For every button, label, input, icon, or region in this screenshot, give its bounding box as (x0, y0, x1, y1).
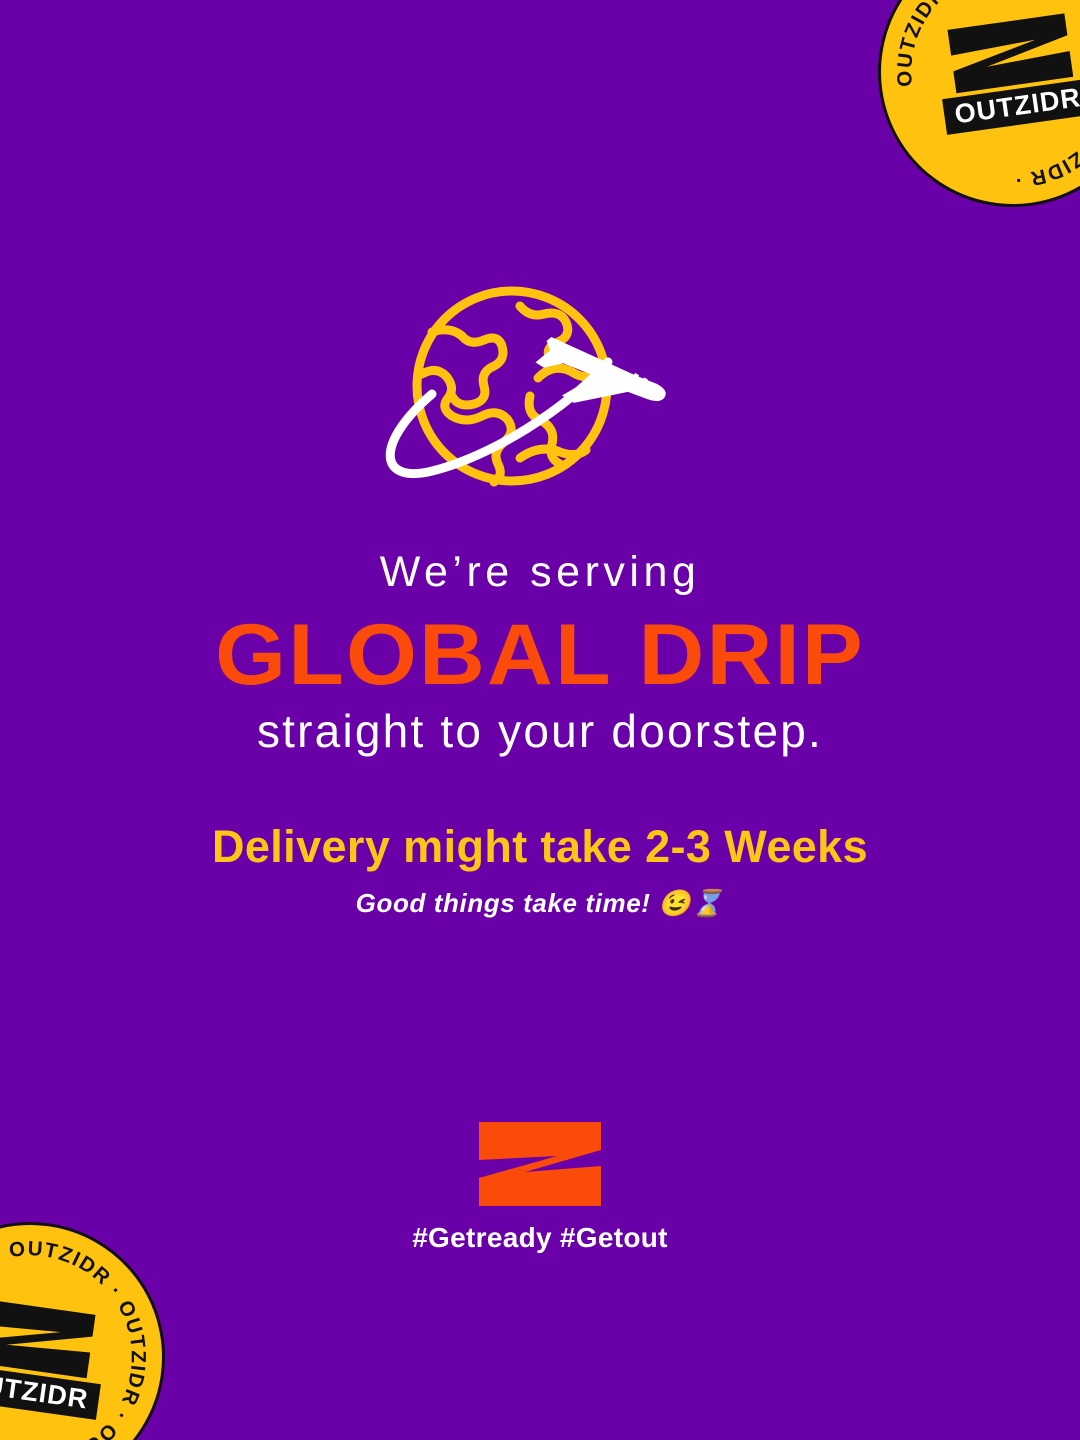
outzidr-z-logo-icon (477, 1122, 603, 1206)
badge-core-top-right: OUTZIDR (932, 9, 1080, 134)
main-copy-block: We’re serving GLOBAL DRIP straight to yo… (0, 548, 1080, 758)
globe-with-airplane-icon (370, 270, 710, 506)
headline-text: GLOBAL DRIP (0, 610, 1080, 700)
delivery-time-text: Delivery might take 2-3 Weeks (0, 822, 1080, 872)
hero-illustration (0, 270, 1080, 506)
badge-core-bottom-left: OUTZIDR (0, 1294, 111, 1419)
delivery-note-text: Good things take time! 😉⌛ (0, 889, 1080, 918)
badge-top-right: OUTZIDR · OUTZIDR · OUTZIDR · OUTZIDR · … (861, 0, 1080, 224)
footer-brand-block: #Getready #Getout (0, 1122, 1080, 1254)
subheadline-text: straight to your doorstep. (0, 706, 1080, 758)
poster-canvas: OUTZIDR · OUTZIDR · OUTZIDR · OUTZIDR · … (0, 0, 1080, 1440)
eyebrow-text: We’re serving (0, 548, 1080, 596)
delivery-notice-block: Delivery might take 2-3 Weeks Good thing… (0, 822, 1080, 917)
